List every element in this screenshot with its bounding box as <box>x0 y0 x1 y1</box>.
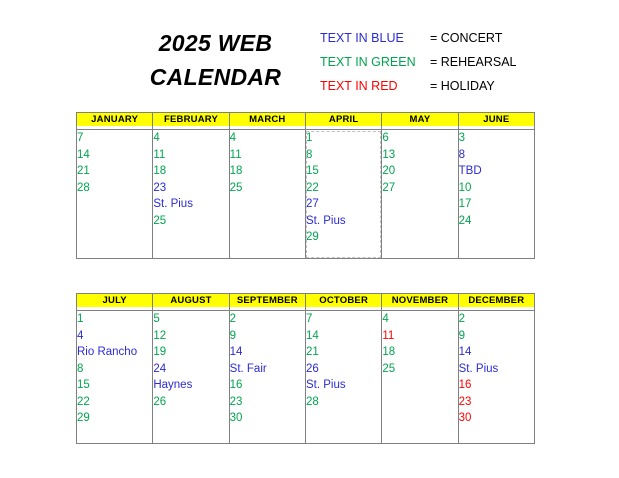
calendar-entry[interactable]: 11 <box>230 147 305 164</box>
calendar-entry[interactable]: 13 <box>382 147 457 164</box>
month-name-label: SEPTEMBER <box>230 294 305 307</box>
month-header-march[interactable]: MARCH <box>229 113 305 130</box>
legend-key-red: TEXT IN RED <box>320 79 430 93</box>
month-cell-august[interactable]: 5121924Haynes26 <box>153 311 229 444</box>
calendar-entry[interactable]: St. Pius <box>306 377 381 394</box>
month-cell-september[interactable]: 2914St. Fair162330 <box>229 311 305 444</box>
month-cell-may[interactable]: 6132027 <box>382 130 458 259</box>
calendar-entry[interactable]: 14 <box>306 328 381 345</box>
month-name-label: JUNE <box>459 113 534 126</box>
calendar-entry[interactable]: 4 <box>77 328 152 345</box>
month-header-row: JANUARYFEBRUARYMARCHAPRILMAYJUNE <box>77 113 535 130</box>
calendar-entry[interactable]: St. Fair <box>230 361 305 378</box>
month-header-april[interactable]: APRIL <box>305 113 381 130</box>
month-cell-february[interactable]: 4111823St. Pius25 <box>153 130 229 259</box>
calendar-entry[interactable]: 16 <box>230 377 305 394</box>
month-cell-march[interactable]: 4111825 <box>229 130 305 259</box>
calendar-entry[interactable]: TBD <box>459 163 534 180</box>
calendar-entry[interactable]: 21 <box>306 344 381 361</box>
calendar-entry[interactable]: 16 <box>459 377 534 394</box>
legend-value-concert: = CONCERT <box>430 31 502 45</box>
calendar-entry[interactable]: 8 <box>77 361 152 378</box>
calendar-entry[interactable]: 30 <box>459 410 534 427</box>
calendar-table-second-half: JULYAUGUSTSEPTEMBEROCTOBERNOVEMBERDECEMB… <box>76 293 535 444</box>
calendar-entry[interactable]: 24 <box>459 213 534 230</box>
month-header-august[interactable]: AUGUST <box>153 294 229 311</box>
calendar-entry[interactable]: St. Pius <box>306 213 381 230</box>
calendar-entry[interactable]: 18 <box>382 344 457 361</box>
calendar-entry[interactable]: 5 <box>153 311 228 328</box>
calendar-entry[interactable]: 9 <box>459 328 534 345</box>
calendar-entry[interactable]: 2 <box>459 311 534 328</box>
month-cell-january[interactable]: 7142128 <box>77 130 153 259</box>
calendar-entry[interactable]: 21 <box>77 163 152 180</box>
calendar-entry[interactable]: 28 <box>77 180 152 197</box>
calendar-entry[interactable]: 9 <box>230 328 305 345</box>
calendar-table-first-half: JANUARYFEBRUARYMARCHAPRILMAYJUNE 7142128… <box>76 112 535 259</box>
month-cell-june[interactable]: 38TBD101724 <box>458 130 534 259</box>
calendar-entry[interactable]: 26 <box>306 361 381 378</box>
calendar-entry[interactable]: 7 <box>77 130 152 147</box>
month-header-november[interactable]: NOVEMBER <box>382 294 458 311</box>
calendar-entry[interactable]: 27 <box>306 196 381 213</box>
calendar-entry[interactable]: 1 <box>306 130 381 147</box>
calendar-entry[interactable]: 11 <box>382 328 457 345</box>
legend-key-blue: TEXT IN BLUE <box>320 31 430 45</box>
calendar-entry[interactable]: 22 <box>77 394 152 411</box>
month-cell-july[interactable]: 14Rio Rancho8152229 <box>77 311 153 444</box>
calendar-entry[interactable]: 3 <box>459 130 534 147</box>
month-header-may[interactable]: MAY <box>382 113 458 130</box>
month-header-february[interactable]: FEBRUARY <box>153 113 229 130</box>
calendar-entry[interactable]: 2 <box>230 311 305 328</box>
month-header-june[interactable]: JUNE <box>458 113 534 130</box>
calendar-entry[interactable]: 25 <box>230 180 305 197</box>
page-title: 2025 WEB CALENDAR <box>108 26 323 94</box>
month-cell-november[interactable]: 4111825 <box>382 311 458 444</box>
month-name-label: MAY <box>382 113 457 126</box>
month-name-label: NOVEMBER <box>382 294 457 307</box>
month-cell-december[interactable]: 2914St. Pius162330 <box>458 311 534 444</box>
calendar-entry[interactable]: 6 <box>382 130 457 147</box>
calendar-entry[interactable]: 15 <box>306 163 381 180</box>
calendar-entry[interactable]: 4 <box>230 130 305 147</box>
month-header-july[interactable]: JULY <box>77 294 153 311</box>
month-body-row: 14Rio Rancho81522295121924Haynes262914St… <box>77 311 535 444</box>
calendar-entry[interactable]: 14 <box>77 147 152 164</box>
calendar-entry[interactable]: 27 <box>382 180 457 197</box>
month-header-december[interactable]: DECEMBER <box>458 294 534 311</box>
calendar-entry[interactable]: St. Pius <box>459 361 534 378</box>
month-name-label: AUGUST <box>153 294 228 307</box>
legend-value-rehearsal: = REHEARSAL <box>430 55 517 69</box>
legend-item-holiday: TEXT IN RED = HOLIDAY <box>320 79 570 103</box>
calendar-entry[interactable]: 15 <box>77 377 152 394</box>
calendar-entry[interactable]: 4 <box>382 311 457 328</box>
calendar-entry[interactable]: 19 <box>153 344 228 361</box>
calendar-entry[interactable]: 20 <box>382 163 457 180</box>
legend-key-green: TEXT IN GREEN <box>320 55 430 69</box>
calendar-entry[interactable]: 4 <box>153 130 228 147</box>
month-header-october[interactable]: OCTOBER <box>305 294 381 311</box>
month-header-january[interactable]: JANUARY <box>77 113 153 130</box>
calendar-entry[interactable]: 18 <box>153 163 228 180</box>
calendar-entry[interactable]: 12 <box>153 328 228 345</box>
calendar-entry[interactable]: 23 <box>459 394 534 411</box>
calendar-entry[interactable]: 29 <box>306 229 381 246</box>
month-name-label: JANUARY <box>77 113 152 126</box>
calendar-entry[interactable]: Rio Rancho <box>77 344 152 361</box>
page-title-line-1: 2025 WEB <box>108 26 323 60</box>
month-header-row: JULYAUGUSTSEPTEMBEROCTOBERNOVEMBERDECEMB… <box>77 294 535 311</box>
month-header-september[interactable]: SEPTEMBER <box>229 294 305 311</box>
calendar-entry[interactable]: 23 <box>230 394 305 411</box>
page-title-line-2: CALENDAR <box>108 60 323 94</box>
legend-value-holiday: = HOLIDAY <box>430 79 495 93</box>
calendar-entry[interactable]: Haynes <box>153 377 228 394</box>
calendar-entry[interactable]: 26 <box>153 394 228 411</box>
calendar-entry[interactable]: 8 <box>459 147 534 164</box>
calendar-entry[interactable]: 23 <box>153 180 228 197</box>
calendar-entry[interactable]: 18 <box>230 163 305 180</box>
calendar-entry[interactable]: 7 <box>306 311 381 328</box>
month-name-label: MARCH <box>230 113 305 126</box>
calendar-entry[interactable]: 1 <box>77 311 152 328</box>
calendar-entry[interactable]: 28 <box>306 394 381 411</box>
calendar-entry[interactable]: 29 <box>77 410 152 427</box>
calendar-entry[interactable]: 24 <box>153 361 228 378</box>
month-name-label: FEBRUARY <box>153 113 228 126</box>
calendar-entry[interactable]: 17 <box>459 196 534 213</box>
calendar-entry[interactable]: 10 <box>459 180 534 197</box>
month-body-row: 71421284111823St. Pius25411182518152227S… <box>77 130 535 259</box>
color-legend: TEXT IN BLUE = CONCERT TEXT IN GREEN = R… <box>320 31 570 103</box>
legend-item-rehearsal: TEXT IN GREEN = REHEARSAL <box>320 55 570 79</box>
month-name-label: APRIL <box>306 113 381 126</box>
calendar-entry[interactable]: 14 <box>459 344 534 361</box>
calendar-entry[interactable]: 25 <box>153 213 228 230</box>
month-cell-october[interactable]: 7142126St. Pius28 <box>305 311 381 444</box>
month-cell-april[interactable]: 18152227St. Pius29 <box>305 130 381 259</box>
legend-item-concert: TEXT IN BLUE = CONCERT <box>320 31 570 55</box>
month-name-label: OCTOBER <box>306 294 381 307</box>
calendar-entry[interactable]: 30 <box>230 410 305 427</box>
month-name-label: JULY <box>77 294 152 307</box>
calendar-entry[interactable]: 25 <box>382 361 457 378</box>
calendar-entry[interactable]: 11 <box>153 147 228 164</box>
calendar-entry[interactable]: 8 <box>306 147 381 164</box>
calendar-entry[interactable]: 14 <box>230 344 305 361</box>
calendar-entry[interactable]: 22 <box>306 180 381 197</box>
month-name-label: DECEMBER <box>459 294 534 307</box>
calendar-entry[interactable]: St. Pius <box>153 196 228 213</box>
